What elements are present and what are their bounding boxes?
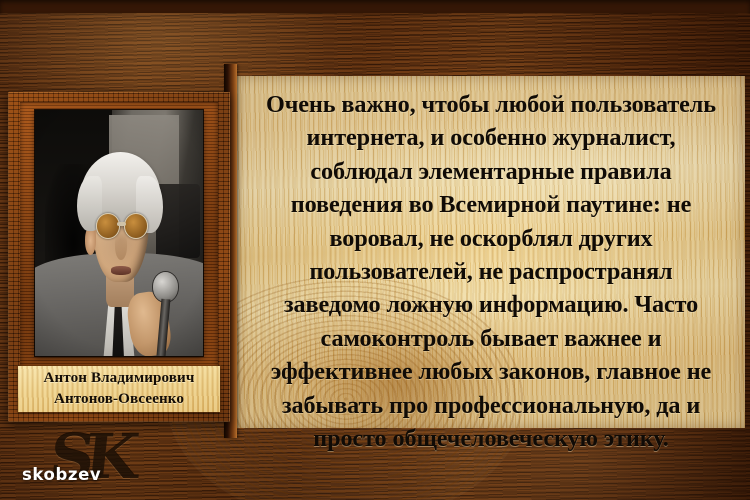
top-rail bbox=[0, 0, 750, 14]
photo-vignette bbox=[35, 110, 203, 356]
quote-line: эффективнее любых законов, главное не bbox=[240, 355, 742, 388]
author-name-line2: Антонов-Овсеенко bbox=[54, 389, 184, 410]
quote-line: соблюдал элементарные правила bbox=[240, 155, 742, 188]
watermark: SK skobzev bbox=[6, 430, 156, 496]
quote-line: интернета, и особенно журналист, bbox=[240, 121, 742, 154]
quote-line: заведомо ложную информацию. Часто bbox=[240, 288, 742, 321]
quote-poster: Очень важно, чтобы любой пользователь ин… bbox=[0, 0, 750, 500]
quote-line: воровал, не оскорблял других bbox=[240, 222, 742, 255]
author-nameplate: Антон Владимирович Антонов-Овсеенко bbox=[18, 366, 220, 412]
quote-line: просто общечеловеческую этику. bbox=[240, 422, 742, 455]
quote-line: поведения во Всемирной паутине: не bbox=[240, 188, 742, 221]
quote-text: Очень важно, чтобы любой пользователь ин… bbox=[240, 88, 742, 455]
watermark-text: skobzev bbox=[22, 465, 101, 484]
portrait-photo bbox=[35, 110, 203, 356]
quote-line: самоконтроль бывает важнее и bbox=[240, 322, 742, 355]
author-name-line1: Антон Владимирович bbox=[44, 368, 195, 389]
quote-line: пользователей, не распространял bbox=[240, 255, 742, 288]
quote-line: забывать про профессиональную, да и bbox=[240, 389, 742, 422]
quote-line: Очень важно, чтобы любой пользователь bbox=[240, 88, 742, 121]
